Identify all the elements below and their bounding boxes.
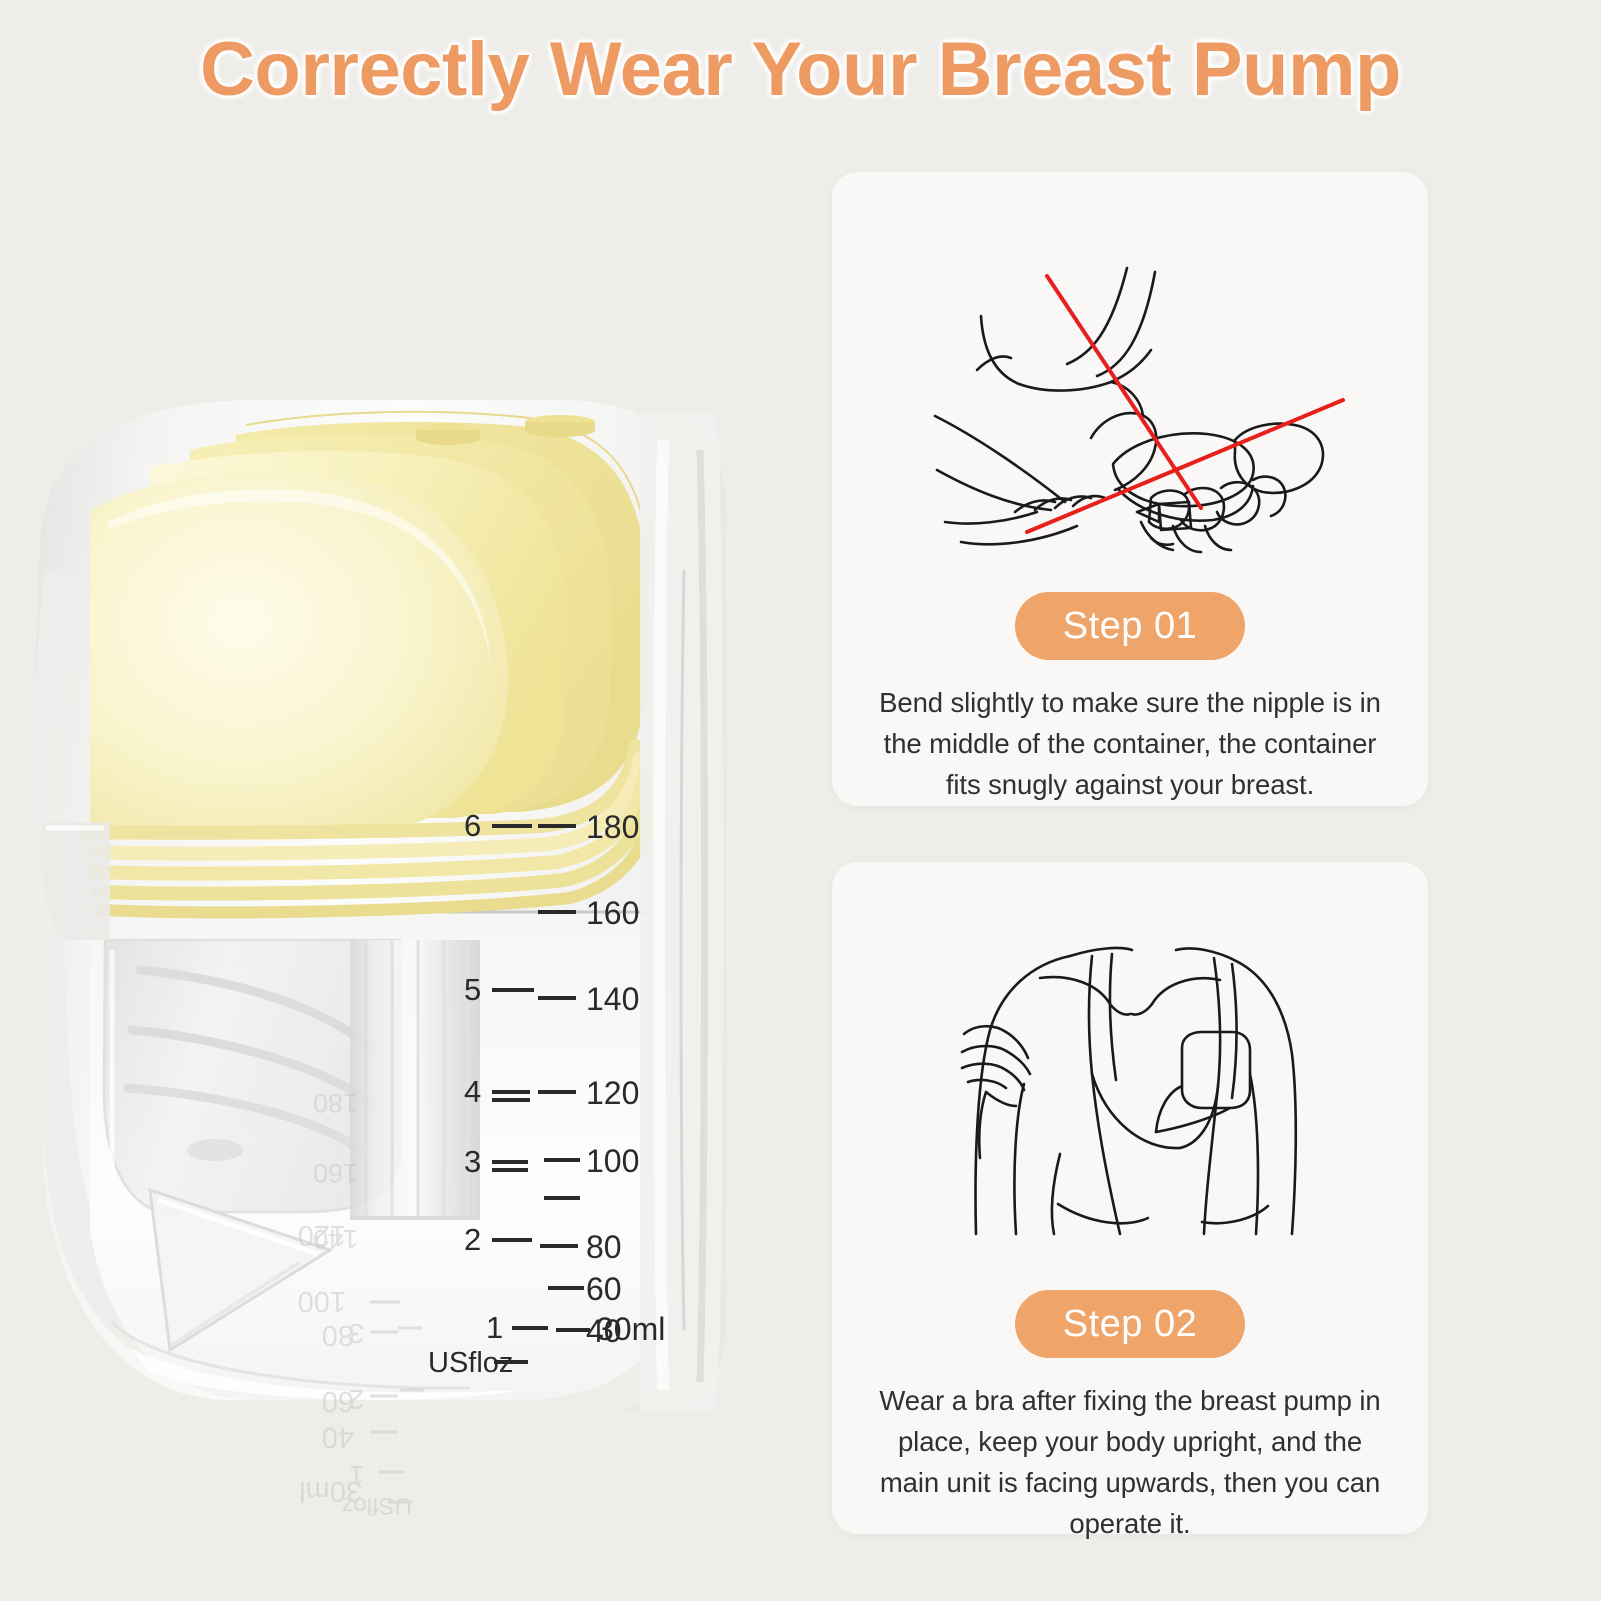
step-card-2: Step 02 Wear a bra after fixing the brea… (832, 862, 1428, 1534)
svg-text:3: 3 (464, 1144, 481, 1179)
svg-text:30ml: 30ml (596, 1311, 665, 1347)
step-02-illustration (832, 862, 1428, 1254)
svg-text:80: 80 (586, 1229, 622, 1265)
svg-text:40: 40 (322, 1421, 354, 1453)
svg-text:180: 180 (313, 1088, 358, 1118)
svg-text:2: 2 (464, 1222, 481, 1257)
step-card-1: Step 01 Bend slightly to make sure the n… (832, 172, 1428, 806)
svg-text:2: 2 (348, 1384, 364, 1415)
svg-text:100: 100 (586, 1143, 639, 1179)
svg-text:120: 120 (586, 1075, 639, 1111)
step-01-description: Bend slightly to make sure the nipple is… (870, 682, 1390, 805)
page-title: Correctly Wear Your Breast Pump (0, 26, 1601, 113)
svg-text:180: 180 (586, 809, 639, 845)
ribbed-connector (350, 940, 480, 1220)
svg-text:60: 60 (586, 1271, 622, 1307)
product-image: 180 160 140 120 100 80 60 40 30ml 3 2 1 … (0, 150, 800, 1570)
svg-text:160: 160 (586, 895, 639, 931)
step-02-badge: Step 02 (1015, 1290, 1245, 1358)
svg-text:100: 100 (298, 1285, 346, 1317)
svg-text:120: 120 (298, 1219, 346, 1251)
step-02-description: Wear a bra after fixing the breast pump … (870, 1380, 1390, 1544)
svg-text:USfloz: USfloz (341, 1492, 412, 1519)
step-01-badge: Step 01 (1015, 592, 1245, 660)
svg-text:6: 6 (464, 808, 481, 843)
svg-text:160: 160 (313, 1158, 358, 1188)
svg-text:1: 1 (350, 1460, 364, 1490)
svg-text:4: 4 (464, 1074, 481, 1109)
svg-text:140: 140 (586, 981, 639, 1017)
svg-text:5: 5 (464, 972, 481, 1007)
svg-text:3: 3 (348, 1318, 364, 1349)
step-01-illustration (832, 172, 1428, 554)
svg-text:1: 1 (486, 1310, 503, 1345)
